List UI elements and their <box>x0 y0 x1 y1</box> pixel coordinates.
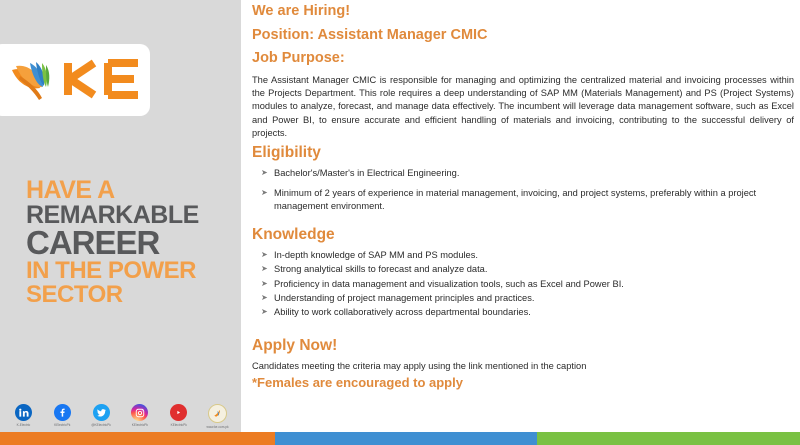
social-handle-twitter: @KElectricPk <box>91 423 111 427</box>
job-purpose-body: The Assistant Manager CMIC is responsibl… <box>252 74 794 140</box>
instagram-icon[interactable] <box>131 404 148 421</box>
k-electric-feather-icon <box>6 54 58 106</box>
social-link-twitter[interactable]: @KElectricPk <box>82 404 120 427</box>
social-link-website[interactable]: www.ke.com.pk <box>199 404 237 429</box>
eligibility-item-text: Minimum of 2 years of experience in mate… <box>274 188 756 211</box>
twitter-icon[interactable] <box>93 404 110 421</box>
eligibility-list: ➤ Bachelor's/Master's in Electrical Engi… <box>252 167 794 214</box>
social-link-youtube[interactable]: KElectricPk <box>160 404 198 427</box>
tagline-line-5: SECTOR <box>26 283 241 307</box>
knowledge-item-text: Strong analytical skills to forecast and… <box>274 264 487 274</box>
arrow-bullet-icon: ➤ <box>261 167 268 180</box>
arrow-bullet-icon: ➤ <box>261 263 268 276</box>
social-link-facebook[interactable]: KElectricPk <box>43 404 81 427</box>
knowledge-item-text: Ability to work collaboratively across d… <box>274 307 531 317</box>
tagline-block: HAVE A REMARKABLE CAREER IN THE POWER SE… <box>26 178 241 306</box>
social-link-instagram[interactable]: KElectricPk <box>121 404 159 427</box>
logo-card <box>0 44 150 116</box>
females-encouraged-note: *Females are encouraged to apply <box>252 375 794 391</box>
job-posting-poster: HAVE A REMARKABLE CAREER IN THE POWER SE… <box>0 0 800 445</box>
social-handle-facebook: KElectricPk <box>54 423 70 427</box>
k-electric-wordmark <box>60 55 146 106</box>
knowledge-item: ➤ Understanding of project management pr… <box>252 292 794 305</box>
knowledge-item: ➤ Proficiency in data management and vis… <box>252 278 794 291</box>
stripe-segment-green <box>537 432 800 445</box>
eligibility-item: ➤ Bachelor's/Master's in Electrical Engi… <box>252 167 794 180</box>
job-purpose-heading: Job Purpose: <box>252 50 794 67</box>
eligibility-item: ➤ Minimum of 2 years of experience in ma… <box>252 187 794 213</box>
arrow-bullet-icon: ➤ <box>261 306 268 319</box>
apply-now-heading: Apply Now! <box>252 337 794 355</box>
bottom-color-stripe <box>0 432 800 445</box>
arrow-bullet-icon: ➤ <box>261 292 268 305</box>
knowledge-item: ➤ Strong analytical skills to forecast a… <box>252 263 794 276</box>
we-are-hiring-heading: We are Hiring! <box>252 3 794 20</box>
website-icon[interactable] <box>208 404 227 423</box>
stripe-segment-blue <box>275 432 537 445</box>
knowledge-item-text: Proficiency in data management and visua… <box>274 279 624 289</box>
social-link-linkedin[interactable]: K-Electric <box>4 404 42 427</box>
stripe-segment-orange <box>0 432 275 445</box>
social-handle-youtube: KElectricPk <box>171 423 187 427</box>
tagline-line-1: HAVE A <box>26 178 241 203</box>
job-details-content: We are Hiring! Position: Assistant Manag… <box>250 0 798 432</box>
knowledge-heading: Knowledge <box>252 226 794 244</box>
apply-instructions: Candidates meeting the criteria may appl… <box>252 360 794 373</box>
knowledge-list: ➤ In-depth knowledge of SAP MM and PS mo… <box>252 249 794 319</box>
arrow-bullet-icon: ➤ <box>261 187 268 200</box>
social-handle-linkedin: K-Electric <box>17 423 31 427</box>
knowledge-item: ➤ Ability to work collaboratively across… <box>252 306 794 319</box>
facebook-icon[interactable] <box>54 404 71 421</box>
knowledge-item: ➤ In-depth knowledge of SAP MM and PS mo… <box>252 249 794 262</box>
eligibility-heading: Eligibility <box>252 144 794 162</box>
youtube-icon[interactable] <box>170 404 187 421</box>
tagline-line-3: CAREER <box>26 227 241 259</box>
social-links-row: K-Electric KElectricPk @KElectricPk KEle… <box>0 404 241 432</box>
eligibility-item-text: Bachelor's/Master's in Electrical Engine… <box>274 168 459 178</box>
arrow-bullet-icon: ➤ <box>261 278 268 291</box>
left-branding-panel: HAVE A REMARKABLE CAREER IN THE POWER SE… <box>0 0 241 432</box>
tagline-line-4: IN THE POWER <box>26 259 241 283</box>
social-handle-instagram: KElectricPk <box>132 423 148 427</box>
arrow-bullet-icon: ➤ <box>261 249 268 262</box>
position-heading: Position: Assistant Manager CMIC <box>252 27 794 44</box>
social-handle-website: www.ke.com.pk <box>206 425 228 429</box>
linkedin-icon[interactable] <box>15 404 32 421</box>
knowledge-item-text: Understanding of project management prin… <box>274 293 534 303</box>
knowledge-item-text: In-depth knowledge of SAP MM and PS modu… <box>274 250 478 260</box>
